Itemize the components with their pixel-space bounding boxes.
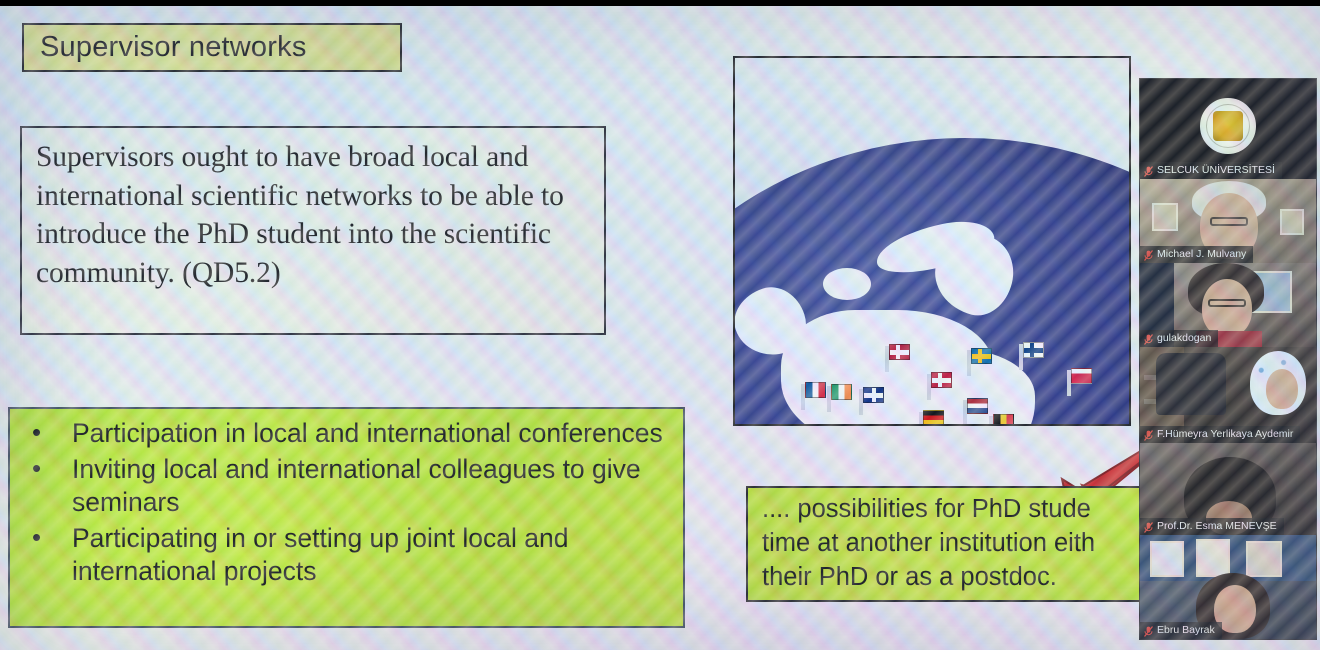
muted-mic-icon: [1144, 626, 1153, 637]
list-item-label: Inviting local and international colleag…: [72, 454, 641, 517]
participant-nameplate: Ebru Bayrak: [1140, 622, 1222, 639]
muted-mic-icon: [1144, 250, 1153, 261]
note-line-2: time at another institution eith: [762, 526, 1174, 560]
video-tile-fhumeyra-yerlikaya-aydemir[interactable]: F.Hümeyra Yerlikaya Aydemir: [1140, 347, 1316, 443]
bullet-marker: •: [32, 452, 41, 485]
bullet-list: • Participation in local and internation…: [16, 417, 677, 588]
country-flag-norway: [889, 344, 910, 360]
participant-name: gulakdogan: [1157, 332, 1211, 344]
bullet-list-box: • Participation in local and internation…: [8, 407, 685, 628]
participant-name: Prof.Dr. Esma MENEVŞE: [1157, 520, 1277, 532]
participant-nameplate: F.Hümeyra Yerlikaya Aydemir: [1140, 426, 1300, 443]
slide-title-box: Supervisor networks: [22, 23, 402, 72]
video-tile-profdr-esma-menevse[interactable]: Prof.Dr. Esma MENEVŞE: [1140, 443, 1316, 535]
participant-nameplate: gulakdogan: [1140, 330, 1218, 347]
bullet-marker: •: [32, 521, 41, 554]
country-flag-netherlands: [967, 398, 988, 414]
bullet-marker: •: [32, 416, 41, 449]
globe-with-flags-image: [733, 56, 1131, 426]
country-flag-ireland: [831, 384, 852, 400]
participant-name: Michael J. Mulvany: [1157, 248, 1246, 260]
university-logo-icon: [1200, 98, 1256, 154]
video-conference-participant-strip[interactable]: SELCUK ÜNİVERSİTESİ Michael J. Mulvany: [1139, 78, 1317, 640]
list-item: • Participation in local and internation…: [16, 417, 677, 450]
video-tile-michael-j-mulvany[interactable]: Michael J. Mulvany: [1140, 179, 1316, 263]
country-flag-germany: [923, 410, 944, 426]
muted-mic-icon: [1144, 334, 1153, 345]
page-title: Supervisor networks: [40, 31, 307, 64]
country-flag-iceland: [805, 382, 826, 398]
statement-text: Supervisors ought to have broad local an…: [36, 138, 590, 292]
note-box: .... possibilities for PhD stude time at…: [746, 486, 1176, 602]
list-item: • Participating in or setting up joint l…: [16, 522, 677, 588]
country-flag-denmark: [931, 372, 952, 388]
country-flag-sweden: [971, 348, 992, 364]
participant-nameplate: Michael J. Mulvany: [1140, 246, 1253, 263]
muted-mic-icon: [1144, 166, 1153, 177]
list-item-label: Participating in or setting up joint loc…: [72, 523, 568, 586]
muted-mic-icon: [1144, 522, 1153, 533]
participant-name: SELCUK ÜNİVERSİTESİ: [1157, 164, 1275, 176]
country-flag-poland: [1071, 368, 1092, 384]
participant-nameplate: SELCUK ÜNİVERSİTESİ: [1140, 162, 1282, 179]
globe-sphere: [733, 138, 1131, 426]
participant-name: F.Hümeyra Yerlikaya Aydemir: [1157, 428, 1293, 440]
video-tile-gulakdogan[interactable]: gulakdogan: [1140, 263, 1316, 347]
country-flag-belgium: [993, 414, 1014, 426]
statement-box: Supervisors ought to have broad local an…: [20, 126, 606, 335]
list-item-label: Participation in local and international…: [72, 418, 663, 448]
projected-slide-screen: Supervisor networks Supervisors ought to…: [0, 6, 1320, 650]
video-tile-selcuk-universitesi[interactable]: SELCUK ÜNİVERSİTESİ: [1140, 79, 1316, 179]
participant-name: Ebru Bayrak: [1157, 624, 1215, 636]
video-tile-ebru-bayrak[interactable]: Ebru Bayrak: [1140, 535, 1316, 639]
muted-mic-icon: [1144, 430, 1153, 441]
note-line-3: their PhD or as a postdoc.: [762, 560, 1174, 594]
list-item: • Inviting local and international colle…: [16, 453, 677, 519]
country-flag-united-kingdom: [863, 387, 884, 403]
country-flag-finland: [1023, 342, 1044, 358]
note-line-1: .... possibilities for PhD stude: [762, 492, 1174, 526]
participant-nameplate: Prof.Dr. Esma MENEVŞE: [1140, 518, 1284, 535]
